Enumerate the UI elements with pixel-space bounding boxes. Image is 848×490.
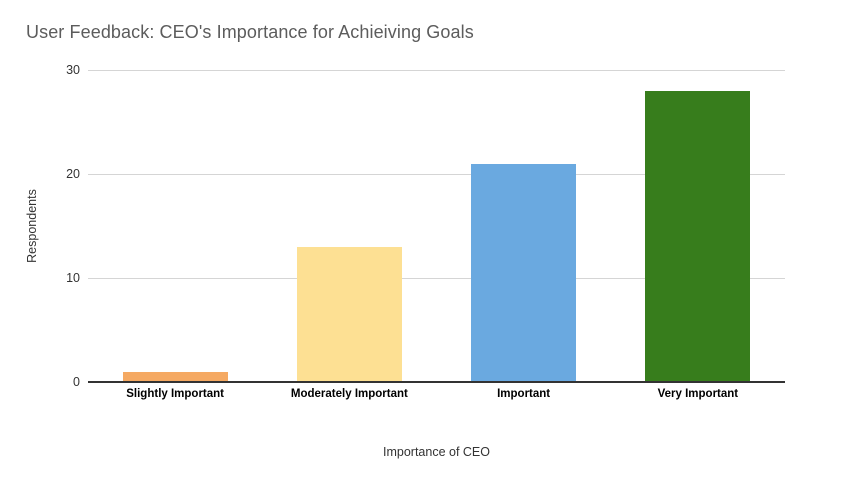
plot-area xyxy=(88,70,785,382)
bar-chart: User Feedback: CEO's Importance for Achi… xyxy=(0,0,848,490)
x-axis-tick-label: Very Important xyxy=(658,388,739,400)
bar[interactable] xyxy=(645,91,750,382)
chart-title: User Feedback: CEO's Importance for Achi… xyxy=(26,22,474,43)
x-axis-tick-label: Important xyxy=(497,388,550,400)
gridline xyxy=(88,70,785,71)
x-axis-title: Importance of CEO xyxy=(88,445,785,459)
x-axis-tick-label: Slightly Important xyxy=(126,388,224,400)
bar[interactable] xyxy=(297,247,402,382)
y-axis-title: Respondents xyxy=(25,70,39,382)
x-axis-line xyxy=(88,381,785,383)
x-axis-tick-label: Moderately Important xyxy=(291,388,408,400)
x-axis-tick-labels: Slightly ImportantModerately ImportantIm… xyxy=(88,388,785,408)
bar[interactable] xyxy=(471,164,576,382)
